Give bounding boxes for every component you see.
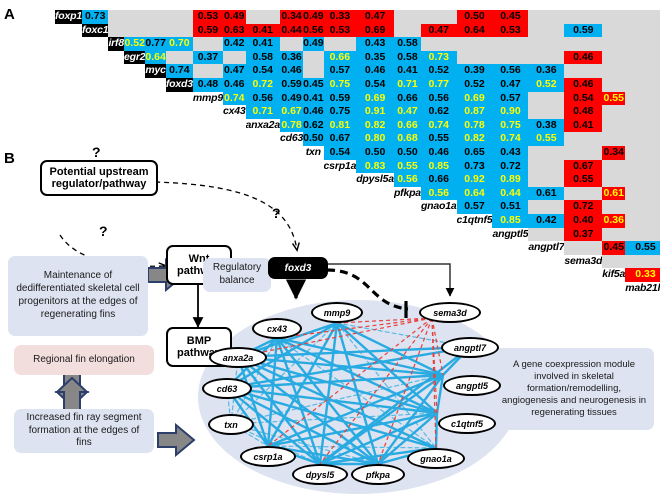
correlation-matrix-table: foxp10.730.530.490.340.490.330.470.500.4… — [55, 10, 660, 295]
matrix-cell-value: 0.53 — [193, 10, 223, 24]
question-mark-upstream: ? — [92, 144, 101, 160]
matrix-cell-empty — [602, 24, 625, 38]
network-node-c1qtnf5[interactable]: c1qtnf5 — [438, 413, 496, 434]
matrix-cell-value: 0.90 — [492, 105, 528, 119]
matrix-spacer-cell — [108, 78, 124, 92]
matrix-spacer-cell — [356, 241, 394, 255]
matrix-cell-value: 0.54 — [564, 92, 602, 106]
matrix-spacer-cell — [457, 241, 493, 255]
matrix-cell-value: 0.85 — [421, 160, 457, 174]
matrix-cell-empty — [324, 37, 357, 51]
matrix-cell-value: 0.55 — [602, 92, 625, 106]
network-node-csrp1a[interactable]: csrp1a — [240, 446, 296, 467]
network-node-sema3d[interactable]: sema3d — [419, 302, 481, 323]
matrix-spacer-cell — [421, 255, 457, 269]
matrix-cell-value: 0.55 — [528, 132, 564, 146]
matrix-cell-value: 0.50 — [303, 132, 323, 146]
matrix-spacer-cell — [145, 282, 165, 296]
matrix-cell-value: 0.37 — [193, 51, 223, 65]
matrix-cell-value: 0.87 — [457, 105, 493, 119]
matrix-cell-value: 0.61 — [602, 187, 625, 201]
matrix-spacer-cell — [124, 200, 145, 214]
matrix-cell-value: 0.51 — [492, 200, 528, 214]
regulatory-balance-box: Regulatory balance — [203, 258, 271, 292]
matrix-spacer-cell — [145, 200, 165, 214]
matrix-cell-value: 0.69 — [356, 24, 394, 38]
matrix-spacer-cell — [145, 92, 165, 106]
matrix-cell-value: 0.72 — [492, 160, 528, 174]
matrix-spacer-cell — [166, 173, 193, 187]
matrix-cell-empty — [528, 24, 564, 38]
matrix-spacer-cell — [421, 268, 457, 282]
matrix-cell-value: 0.40 — [564, 214, 602, 228]
network-background-blob — [198, 300, 518, 494]
network-node-gnao1a[interactable]: gnao1a — [407, 448, 465, 469]
matrix-cell-empty — [246, 10, 280, 24]
matrix-row-label-kif5a: kif5a — [602, 268, 625, 282]
matrix-cell-value: 0.67 — [280, 105, 303, 119]
matrix-cell-empty — [564, 187, 602, 201]
network-node-mmp9[interactable]: mmp9 — [311, 302, 363, 323]
matrix-spacer-cell — [303, 160, 323, 174]
matrix-spacer-cell — [564, 282, 602, 296]
matrix-cell-empty — [602, 228, 625, 242]
matrix-cell-empty — [602, 10, 625, 24]
matrix-spacer-cell — [223, 173, 246, 187]
matrix-cell-value: 0.52 — [528, 78, 564, 92]
matrix-spacer-cell — [145, 78, 165, 92]
matrix-row-label-c1qtnf5: c1qtnf5 — [457, 214, 493, 228]
matrix-cell-value: 0.66 — [394, 92, 421, 106]
matrix-cell-value: 0.75 — [324, 105, 357, 119]
matrix-row: foxp10.730.530.490.340.490.330.470.500.4… — [55, 10, 660, 24]
matrix-cell-value: 0.82 — [356, 119, 394, 133]
matrix-cell-empty — [492, 51, 528, 65]
matrix-cell-value: 0.56 — [421, 92, 457, 106]
matrix-cell-empty — [193, 37, 223, 51]
matrix-cell-value: 0.69 — [457, 92, 493, 106]
matrix-spacer-cell — [108, 146, 124, 160]
matrix-spacer-cell — [394, 241, 421, 255]
correlation-matrix: foxp10.730.530.490.340.490.330.470.500.4… — [55, 10, 660, 295]
network-node-cd63[interactable]: cd63 — [202, 378, 252, 399]
matrix-spacer-cell — [394, 214, 421, 228]
matrix-row-label-mmp9: mmp9 — [193, 92, 223, 106]
maintenance-text-box: Maintenance of dedifferentiated skeletal… — [8, 256, 148, 336]
matrix-row: anxa2a0.780.620.810.820.660.740.780.750.… — [55, 119, 660, 133]
matrix-row: cx430.710.670.460.750.910.470.620.870.90… — [55, 105, 660, 119]
matrix-cell-value: 0.37 — [564, 228, 602, 242]
matrix-cell-empty — [303, 51, 323, 65]
matrix-spacer-cell — [166, 119, 193, 133]
matrix-row: irf80.520.770.700.420.410.490.430.58 — [55, 37, 660, 51]
matrix-cell-empty — [625, 78, 660, 92]
matrix-cell-empty — [602, 160, 625, 174]
matrix-cell-empty — [602, 255, 625, 269]
matrix-spacer-cell — [55, 92, 82, 106]
matrix-cell-empty — [457, 37, 493, 51]
matrix-spacer-cell — [356, 282, 394, 296]
matrix-cell-value: 0.55 — [625, 241, 660, 255]
matrix-cell-value: 0.55 — [564, 173, 602, 187]
matrix-cell-value: 0.52 — [124, 37, 145, 51]
matrix-spacer-cell — [421, 214, 457, 228]
matrix-spacer-cell — [166, 214, 193, 228]
matrix-row: c1qtnf50.850.420.400.36 — [55, 214, 660, 228]
matrix-cell-empty — [394, 10, 421, 24]
matrix-cell-value: 0.70 — [166, 37, 193, 51]
matrix-spacer-cell — [145, 132, 165, 146]
matrix-spacer-cell — [193, 160, 223, 174]
matrix-cell-value: 0.54 — [246, 64, 280, 78]
matrix-cell-value: 0.73 — [421, 51, 457, 65]
matrix-cell-empty — [602, 105, 625, 119]
matrix-cell-value: 0.75 — [324, 78, 357, 92]
matrix-spacer-cell — [82, 92, 108, 106]
matrix-cell-value: 0.73 — [457, 160, 493, 174]
matrix-cell-empty — [602, 173, 625, 187]
matrix-cell-value: 0.62 — [303, 119, 323, 133]
matrix-cell-empty — [602, 51, 625, 65]
matrix-spacer-cell — [280, 146, 303, 160]
matrix-cell-value: 0.64 — [457, 187, 493, 201]
matrix-cell-value: 0.55 — [421, 132, 457, 146]
matrix-row-label-csrp1a: csrp1a — [324, 160, 357, 174]
matrix-cell-value: 0.66 — [394, 119, 421, 133]
matrix-cell-value: 0.61 — [528, 187, 564, 201]
matrix-spacer-cell — [457, 282, 493, 296]
matrix-cell-value: 0.35 — [356, 51, 394, 65]
matrix-spacer-cell — [457, 268, 493, 282]
matrix-cell-empty — [625, 119, 660, 133]
potential-upstream-regulator-box[interactable]: Potential upstream regulator/pathway — [40, 160, 158, 196]
matrix-cell-value: 0.44 — [492, 187, 528, 201]
matrix-spacer-cell — [356, 214, 394, 228]
matrix-cell-value: 0.53 — [324, 24, 357, 38]
matrix-cell-value: 0.92 — [457, 173, 493, 187]
matrix-spacer-cell — [55, 24, 82, 38]
matrix-spacer-cell — [564, 268, 602, 282]
matrix-cell-value: 0.45 — [492, 10, 528, 24]
matrix-row-label-angptl5: angptl5 — [492, 228, 528, 242]
matrix-spacer-cell — [166, 92, 193, 106]
matrix-cell-value: 0.71 — [246, 105, 280, 119]
matrix-cell-value: 0.36 — [280, 51, 303, 65]
matrix-spacer-cell — [193, 146, 223, 160]
matrix-spacer-cell — [55, 105, 82, 119]
matrix-spacer-cell — [55, 214, 82, 228]
matrix-cell-value: 0.41 — [564, 119, 602, 133]
matrix-cell-value: 0.77 — [421, 78, 457, 92]
matrix-spacer-cell — [528, 282, 564, 296]
matrix-cell-value: 0.36 — [602, 214, 625, 228]
matrix-spacer-cell — [394, 268, 421, 282]
matrix-spacer-cell — [108, 132, 124, 146]
matrix-spacer-cell — [145, 105, 165, 119]
matrix-spacer-cell — [246, 228, 280, 242]
matrix-spacer-cell — [394, 228, 421, 242]
matrix-cell-empty — [625, 24, 660, 38]
matrix-spacer-cell — [55, 51, 82, 65]
matrix-cell-value: 0.42 — [528, 214, 564, 228]
matrix-cell-value: 0.46 — [303, 105, 323, 119]
matrix-cell-empty — [421, 37, 457, 51]
matrix-spacer-cell — [193, 187, 223, 201]
matrix-spacer-cell — [82, 241, 108, 255]
matrix-cell-empty — [421, 10, 457, 24]
matrix-cell-value: 0.80 — [356, 132, 394, 146]
matrix-cell-empty — [457, 51, 493, 65]
matrix-cell-empty — [625, 228, 660, 242]
matrix-cell-value: 0.89 — [492, 173, 528, 187]
matrix-cell-value: 0.52 — [421, 64, 457, 78]
matrix-spacer-cell — [356, 268, 394, 282]
matrix-cell-value: 0.68 — [394, 132, 421, 146]
matrix-cell-value: 0.56 — [246, 92, 280, 106]
matrix-cell-value: 0.72 — [246, 78, 280, 92]
matrix-cell-empty — [625, 10, 660, 24]
matrix-cell-empty — [223, 51, 246, 65]
matrix-spacer-cell — [394, 255, 421, 269]
matrix-cell-value: 0.85 — [492, 214, 528, 228]
matrix-cell-value: 0.45 — [602, 241, 625, 255]
matrix-cell-empty — [564, 241, 602, 255]
matrix-row: cd630.500.670.800.680.550.820.740.55 — [55, 132, 660, 146]
matrix-cell-value: 0.48 — [564, 105, 602, 119]
matrix-cell-value: 0.77 — [145, 37, 165, 51]
matrix-spacer-cell — [394, 282, 421, 296]
matrix-spacer-cell — [246, 173, 280, 187]
matrix-cell-empty — [625, 132, 660, 146]
matrix-spacer-cell — [223, 214, 246, 228]
matrix-cell-value: 0.50 — [394, 146, 421, 160]
matrix-cell-value: 0.49 — [223, 10, 246, 24]
matrix-spacer-cell — [108, 214, 124, 228]
matrix-spacer-cell — [82, 64, 108, 78]
matrix-cell-empty — [124, 10, 145, 24]
matrix-cell-empty — [625, 187, 660, 201]
matrix-spacer-cell — [55, 119, 82, 133]
matrix-cell-empty — [124, 24, 145, 38]
matrix-row-label-anxa2a: anxa2a — [246, 119, 280, 133]
matrix-row-label-dpysl5a: dpysl5a — [356, 173, 394, 187]
matrix-spacer-cell — [246, 146, 280, 160]
network-node-angptl5[interactable]: angptl5 — [443, 375, 501, 396]
matrix-cell-empty — [528, 92, 564, 106]
matrix-cell-empty — [564, 10, 602, 24]
matrix-row-label-foxc1: foxc1 — [82, 24, 108, 38]
matrix-spacer-cell — [324, 282, 357, 296]
matrix-spacer-cell — [280, 187, 303, 201]
matrix-cell-empty — [528, 173, 564, 187]
matrix-spacer-cell — [145, 146, 165, 160]
matrix-spacer-cell — [193, 228, 223, 242]
matrix-cell-value: 0.46 — [223, 78, 246, 92]
network-node-pfkpa[interactable]: pfkpa — [351, 464, 405, 485]
matrix-spacer-cell — [124, 132, 145, 146]
matrix-cell-empty — [602, 78, 625, 92]
matrix-spacer-cell — [193, 200, 223, 214]
matrix-cell-value: 0.46 — [280, 64, 303, 78]
question-mark-foxd3: ? — [272, 205, 281, 221]
matrix-cell-value: 0.45 — [303, 78, 323, 92]
matrix-cell-empty — [564, 37, 602, 51]
matrix-spacer-cell — [193, 105, 223, 119]
matrix-cell-empty — [394, 24, 421, 38]
matrix-spacer-cell — [356, 228, 394, 242]
matrix-spacer-cell — [324, 268, 357, 282]
matrix-cell-value: 0.34 — [280, 10, 303, 24]
matrix-row-label-myc: myc — [145, 64, 165, 78]
matrix-spacer-cell — [124, 64, 145, 78]
matrix-row-label-cx43: cx43 — [223, 105, 246, 119]
matrix-cell-empty — [625, 105, 660, 119]
matrix-spacer-cell — [124, 241, 145, 255]
matrix-cell-empty — [625, 146, 660, 160]
panel-a-letter: A — [4, 6, 15, 23]
matrix-spacer-cell — [421, 241, 457, 255]
matrix-cell-value: 0.49 — [280, 92, 303, 106]
matrix-cell-value: 0.47 — [356, 10, 394, 24]
matrix-spacer-cell — [324, 200, 357, 214]
matrix-spacer-cell — [82, 51, 108, 65]
matrix-spacer-cell — [303, 241, 323, 255]
fin-ray-segment-box: Increased fin ray segment formation at t… — [14, 409, 154, 453]
matrix-cell-value: 0.46 — [564, 51, 602, 65]
matrix-cell-empty — [625, 214, 660, 228]
matrix-spacer-cell — [108, 64, 124, 78]
matrix-cell-value: 0.34 — [602, 146, 625, 160]
network-node-txn[interactable]: txn — [208, 414, 254, 435]
matrix-cell-value: 0.53 — [492, 24, 528, 38]
network-node-angptl7[interactable]: angptl7 — [441, 337, 499, 358]
matrix-cell-value: 0.72 — [564, 200, 602, 214]
matrix-cell-value: 0.58 — [246, 51, 280, 65]
matrix-spacer-cell — [55, 78, 82, 92]
matrix-row-label-txn: txn — [303, 146, 323, 160]
matrix-spacer-cell — [223, 200, 246, 214]
matrix-spacer-cell — [280, 241, 303, 255]
foxd3-node[interactable]: foxd3 — [268, 257, 328, 279]
matrix-spacer-cell — [246, 187, 280, 201]
matrix-spacer-cell — [55, 132, 82, 146]
matrix-spacer-cell — [55, 228, 82, 242]
matrix-spacer-cell — [55, 37, 82, 51]
matrix-cell-empty — [303, 64, 323, 78]
matrix-spacer-cell — [303, 228, 323, 242]
matrix-cell-value: 0.74 — [166, 64, 193, 78]
matrix-cell-value: 0.55 — [394, 160, 421, 174]
matrix-spacer-cell — [166, 146, 193, 160]
matrix-spacer-cell — [246, 160, 280, 174]
matrix-row-label-gnao1a: gnao1a — [421, 200, 457, 214]
matrix-cell-value: 0.33 — [324, 10, 357, 24]
matrix-cell-value: 0.66 — [421, 173, 457, 187]
matrix-spacer-cell — [356, 187, 394, 201]
matrix-spacer-cell — [280, 200, 303, 214]
matrix-cell-value: 0.59 — [193, 24, 223, 38]
matrix-cell-empty — [625, 255, 660, 269]
matrix-cell-empty — [528, 105, 564, 119]
matrix-spacer-cell — [145, 241, 165, 255]
matrix-spacer-cell — [280, 228, 303, 242]
matrix-cell-value: 0.64 — [457, 24, 493, 38]
network-node-cx43[interactable]: cx43 — [252, 318, 302, 339]
matrix-cell-empty — [625, 51, 660, 65]
matrix-cell-value: 0.36 — [528, 64, 564, 78]
matrix-cell-empty — [602, 64, 625, 78]
matrix-spacer-cell — [55, 146, 82, 160]
matrix-cell-value: 0.42 — [223, 37, 246, 51]
matrix-row-label-mab21l1: mab21l1 — [625, 282, 660, 296]
matrix-cell-value: 0.41 — [303, 92, 323, 106]
matrix-spacer-cell — [145, 214, 165, 228]
matrix-cell-value: 0.67 — [324, 132, 357, 146]
matrix-spacer-cell — [108, 228, 124, 242]
matrix-cell-empty — [492, 37, 528, 51]
matrix-spacer-cell — [124, 228, 145, 242]
matrix-spacer-cell — [223, 146, 246, 160]
matrix-cell-empty — [528, 37, 564, 51]
matrix-spacer-cell — [166, 160, 193, 174]
matrix-cell-empty — [108, 10, 124, 24]
matrix-spacer-cell — [193, 214, 223, 228]
matrix-spacer-cell — [124, 214, 145, 228]
matrix-cell-value: 0.43 — [356, 37, 394, 51]
matrix-cell-empty — [625, 37, 660, 51]
panel-b-letter: B — [4, 150, 15, 167]
network-node-anxa2a[interactable]: anxa2a — [209, 347, 267, 368]
matrix-cell-value: 0.57 — [324, 64, 357, 78]
matrix-spacer-cell — [246, 241, 280, 255]
matrix-spacer-cell — [324, 187, 357, 201]
matrix-cell-empty — [625, 92, 660, 106]
matrix-spacer-cell — [324, 255, 357, 269]
network-node-dpysl5[interactable]: dpysl5 — [292, 464, 348, 485]
matrix-cell-value: 0.50 — [356, 146, 394, 160]
matrix-spacer-cell — [108, 92, 124, 106]
matrix-cell-empty — [145, 10, 165, 24]
matrix-row-label-pfkpa: pfkpa — [394, 187, 421, 201]
matrix-spacer-cell — [124, 119, 145, 133]
matrix-cell-value: 0.48 — [193, 78, 223, 92]
matrix-spacer-cell — [82, 119, 108, 133]
matrix-cell-empty — [528, 160, 564, 174]
matrix-cell-value: 0.52 — [457, 78, 493, 92]
matrix-cell-value: 0.47 — [421, 24, 457, 38]
matrix-cell-value: 0.41 — [394, 64, 421, 78]
matrix-spacer-cell — [193, 173, 223, 187]
matrix-spacer-cell — [82, 105, 108, 119]
matrix-cell-empty — [166, 51, 193, 65]
matrix-cell-empty — [625, 200, 660, 214]
matrix-cell-value: 0.71 — [394, 78, 421, 92]
matrix-spacer-cell — [303, 200, 323, 214]
matrix-cell-value: 0.50 — [457, 10, 493, 24]
matrix-spacer-cell — [193, 119, 223, 133]
matrix-row: txn0.540.500.500.460.650.430.34 — [55, 146, 660, 160]
matrix-spacer-cell — [223, 228, 246, 242]
matrix-cell-empty — [564, 64, 602, 78]
matrix-spacer-cell — [303, 214, 323, 228]
matrix-spacer-cell — [528, 268, 564, 282]
matrix-spacer-cell — [145, 268, 165, 282]
matrix-cell-empty — [528, 51, 564, 65]
matrix-cell-value: 0.78 — [457, 119, 493, 133]
matrix-spacer-cell — [246, 132, 280, 146]
matrix-row-label-foxp1: foxp1 — [55, 10, 82, 24]
matrix-row-label-angptl7: angptl7 — [528, 241, 564, 255]
